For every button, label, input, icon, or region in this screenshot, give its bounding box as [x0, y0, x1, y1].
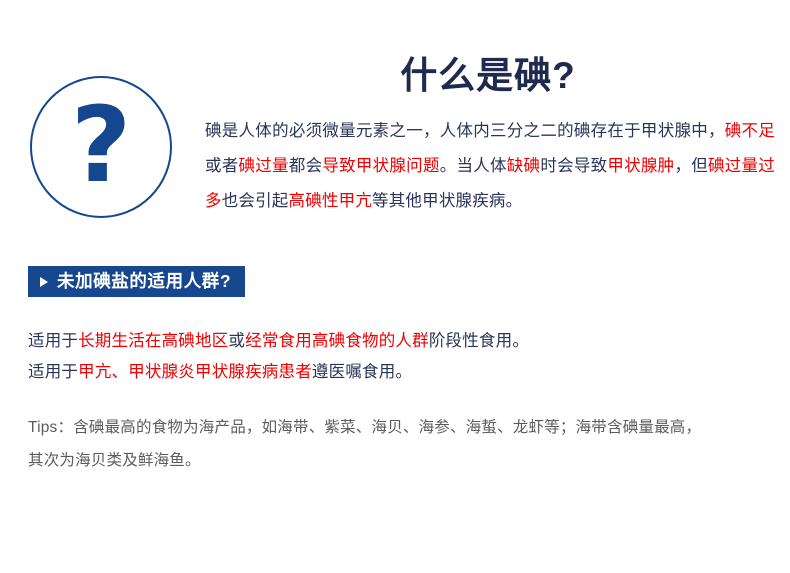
highlighted-text: 碘不足 [725, 122, 775, 140]
applicability-line: 适用于长期生活在高碘地区或经常食用高碘食物的人群阶段性食用。 [28, 326, 768, 357]
triangle-right-icon [40, 277, 48, 287]
plain-text: 时会导致 [540, 157, 607, 175]
highlighted-text: 导致甲状腺问题 [322, 157, 439, 175]
tips-line: 其次为海贝类及鲜海鱼。 [28, 444, 776, 477]
section-banner-label: 未加碘盐的适用人群? [57, 266, 231, 297]
plain-text: 等其他甲状腺疾病。 [372, 192, 522, 210]
highlighted-text: 长期生活在高碘地区 [78, 332, 228, 350]
plain-text: 适用于 [28, 363, 78, 381]
plain-text: 。当人体 [440, 157, 507, 175]
plain-text: 或者 [205, 157, 239, 175]
question-mark-badge: ? [30, 76, 172, 218]
plain-text: 或 [228, 332, 245, 350]
plain-text: 阶段性食用。 [429, 332, 529, 350]
intro-paragraph: 碘是人体的必须微量元素之一，人体内三分之二的碘存在于甲状腺中，碘不足或者碘过量都… [205, 114, 775, 219]
plain-text: 适用于 [28, 332, 78, 350]
highlighted-text: 高碘性甲亢 [289, 192, 373, 210]
tips-block: Tips：含碘最高的食物为海产品，如海带、紫菜、海贝、海参、海蜇、龙虾等；海带含… [28, 411, 776, 477]
header-block: 什么是碘? 碘是人体的必须微量元素之一，人体内三分之二的碘存在于甲状腺中，碘不足… [205, 52, 775, 219]
applicability-line: 适用于甲亢、甲状腺炎甲状腺疾病患者遵医嘱食用。 [28, 357, 768, 388]
highlighted-text: 碘过量 [239, 157, 289, 175]
highlighted-text: 缺碘 [507, 157, 541, 175]
plain-text: 遵医嘱食用。 [312, 363, 412, 381]
tips-line: Tips：含碘最高的食物为海产品，如海带、紫菜、海贝、海参、海蜇、龙虾等；海带含… [28, 411, 776, 444]
section-banner: 未加碘盐的适用人群? [28, 266, 245, 297]
page-title: 什么是碘? [205, 52, 775, 100]
highlighted-text: 甲亢、甲状腺炎甲状腺疾病患者 [78, 363, 312, 381]
plain-text: 都会 [289, 157, 323, 175]
plain-text: 碘是人体的必须微量元素之一，人体内三分之二的碘存在于甲状腺中， [205, 122, 725, 140]
plain-text: 也会引起 [222, 192, 289, 210]
plain-text: ，但 [674, 157, 708, 175]
highlighted-text: 经常食用高碘食物的人群 [245, 332, 429, 350]
highlighted-text: 甲状腺肿 [607, 157, 674, 175]
question-mark-icon: ? [32, 93, 170, 197]
applicability-list: 适用于长期生活在高碘地区或经常食用高碘食物的人群阶段性食用。 适用于甲亢、甲状腺… [28, 326, 768, 388]
